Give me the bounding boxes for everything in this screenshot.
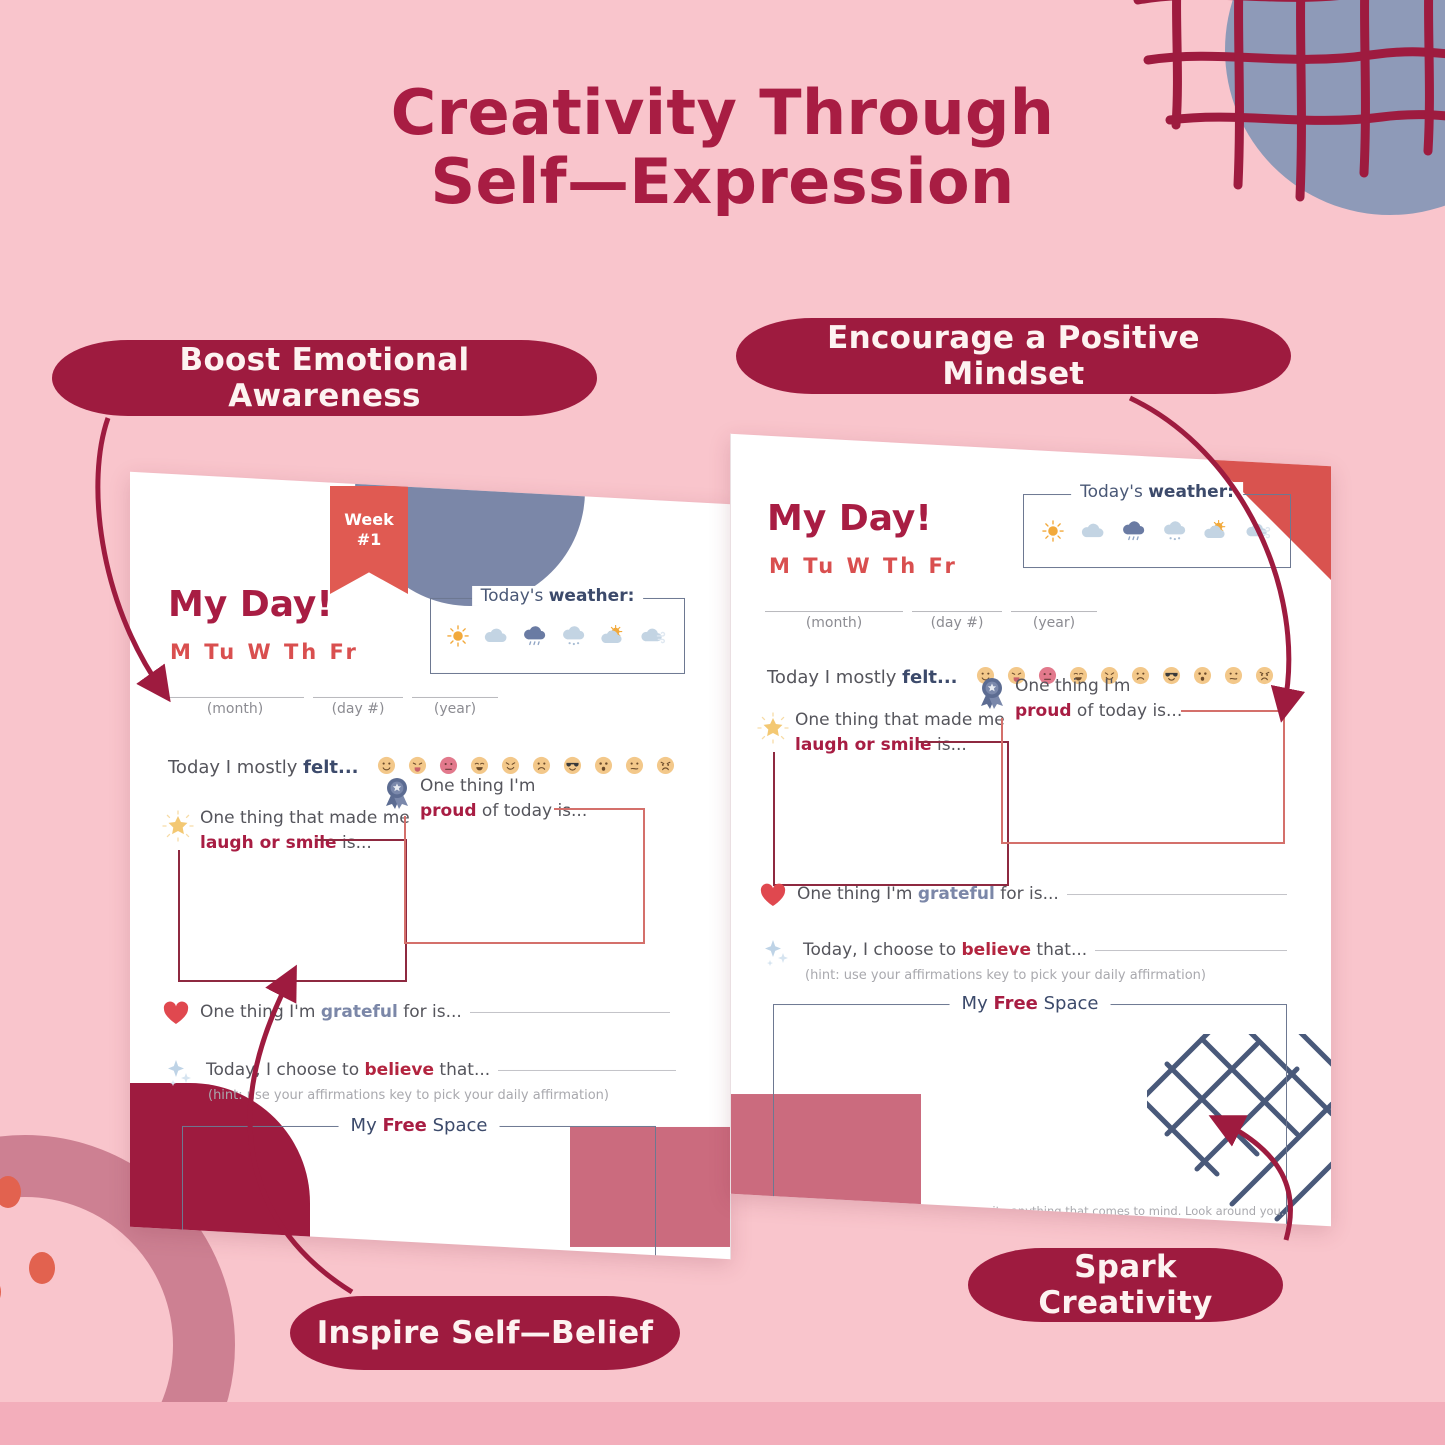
believe-bold-right: believe: [962, 940, 1032, 960]
heart-icon: [162, 1000, 190, 1026]
page-heading-left: My Day!: [168, 584, 333, 625]
day-rule-right: [912, 610, 1002, 612]
laugh-or-smile-answer-box-right[interactable]: [771, 738, 1011, 888]
felt-prompt-left: Today I mostly felt...: [168, 757, 359, 778]
cloud-icon[interactable]: [482, 626, 508, 646]
prompt-laugh-line1: One thing that made me: [200, 808, 410, 828]
proud-box-outline-right: [999, 708, 1287, 846]
windy-cloud-icon[interactable]: [1245, 520, 1273, 542]
free-space-bold: Free: [382, 1115, 426, 1136]
weather-selector-right[interactable]: Today's weather:: [1023, 494, 1291, 568]
weekday-row-right: M Tu W Th Fr: [769, 554, 958, 578]
free-space-post: Space: [427, 1115, 488, 1136]
prompt-laugh-line1-right: One thing that made me: [795, 710, 1005, 730]
date-line-right: (month) (day #) (year): [765, 610, 1097, 631]
year-field-right[interactable]: (year): [1011, 610, 1097, 631]
surprised-face-icon[interactable]: [594, 756, 613, 779]
worried-face-icon[interactable]: [656, 756, 675, 779]
snow-cloud-icon[interactable]: [560, 625, 586, 647]
windy-cloud-icon[interactable]: [640, 625, 668, 647]
worried-face-icon[interactable]: [1255, 666, 1274, 689]
month-field[interactable]: (month): [166, 696, 304, 717]
grateful-post-right: for is...: [995, 884, 1059, 904]
felt-prompt-right: Today I mostly felt...: [767, 667, 958, 688]
grateful-pre-right: One thing I'm: [797, 884, 918, 904]
free-space-caption-right: My Free Space: [950, 993, 1111, 1014]
believe-bold: believe: [365, 1060, 435, 1080]
proud-answer-box-left[interactable]: [402, 806, 647, 946]
free-space-box-right[interactable]: My Free Space (Use this space to draw, s…: [773, 1004, 1287, 1226]
page-title: Creativity Through Self—Expression: [0, 78, 1445, 217]
partly-sunny-icon[interactable]: [599, 625, 627, 647]
free-space-hint-line2-right: Is there an object you can draw or ask q…: [866, 1221, 1193, 1226]
believe-pre-right: Today, I choose to: [803, 940, 962, 960]
rain-cloud-icon[interactable]: [1120, 520, 1146, 542]
award-ribbon-icon: [977, 676, 1007, 710]
sparkle-icon: [761, 938, 791, 970]
confused-face-icon[interactable]: [625, 756, 644, 779]
day-field[interactable]: (day #): [313, 696, 403, 717]
heart-icon: [759, 882, 787, 908]
laugh-box-outline: [176, 836, 409, 984]
weather-caption-left: Today's weather:: [472, 586, 644, 606]
month-label-right: (month): [806, 615, 862, 631]
month-field-right[interactable]: (month): [765, 610, 903, 631]
week-ribbon-line1: Week: [344, 510, 393, 529]
partly-sunny-icon[interactable]: [1202, 520, 1230, 542]
page-heading-right: My Day!: [767, 498, 932, 539]
believe-write-line[interactable]: [498, 1069, 676, 1071]
felt-prompt-bold-right: felt...: [902, 667, 957, 688]
believe-text-right: Today, I choose to believe that...: [803, 940, 1087, 960]
year-rule-right: [1011, 610, 1097, 612]
prompt-proud-line1-right: One thing I'm: [1015, 676, 1130, 696]
week-ribbon: Week #1: [330, 486, 408, 594]
felt-prompt-bold: felt...: [303, 757, 358, 778]
free-space-hint-right: (Use this space to draw, sketch, or writ…: [774, 1203, 1286, 1227]
weather-caption-plain: Today's: [481, 586, 549, 606]
laugh-box-outline-right: [771, 738, 1011, 888]
month-label: (month): [207, 701, 263, 717]
weather-caption-plain-right: Today's: [1080, 482, 1148, 502]
weekday-row-left: M Tu W Th Fr: [170, 640, 359, 664]
grateful-bold-right: grateful: [918, 884, 995, 904]
award-ribbon-icon: [382, 776, 412, 810]
free-space-caption-left: My Free Space: [339, 1115, 500, 1136]
prompt-proud-line1: One thing I'm: [420, 776, 535, 796]
believe-prompt-right[interactable]: Today, I choose to believe that...: [803, 940, 1287, 960]
day-rule: [313, 696, 403, 698]
weather-caption-bold: weather:: [549, 586, 635, 606]
day-label: (day #): [332, 701, 385, 717]
callout-boost-emotional-awareness[interactable]: Boost Emotional Awareness: [52, 340, 597, 416]
decor-bottom-band: [0, 1402, 1445, 1445]
weather-caption-bold-right: weather:: [1148, 482, 1234, 502]
grateful-bold: grateful: [321, 1002, 398, 1022]
proud-box-outline: [402, 806, 647, 946]
grateful-text-right: One thing I'm grateful for is...: [797, 884, 1059, 904]
felt-prompt-plain-right: Today I mostly: [767, 667, 902, 688]
week-ribbon-line2: #1: [357, 530, 382, 549]
poster-canvas: Creativity Through Self—Expression Week …: [0, 0, 1445, 1445]
grateful-pre: One thing I'm: [200, 1002, 321, 1022]
surprised-face-icon[interactable]: [1193, 666, 1212, 689]
free-space-post-right: Space: [1038, 993, 1099, 1014]
month-rule-right: [765, 610, 903, 612]
grateful-prompt-right[interactable]: One thing I'm grateful for is...: [797, 884, 1287, 904]
callout-encourage-positive-mindset[interactable]: Encourage a Positive Mindset: [736, 318, 1291, 394]
rain-cloud-icon[interactable]: [521, 625, 547, 647]
grateful-write-line-right[interactable]: [1067, 893, 1287, 895]
year-rule: [412, 696, 498, 698]
believe-hint-right: (hint: use your affirmations key to pick…: [805, 968, 1206, 983]
year-label: (year): [434, 701, 476, 717]
sun-icon[interactable]: [1042, 520, 1064, 542]
believe-text-left: Today, I choose to believe that...: [206, 1060, 490, 1080]
grateful-prompt-left[interactable]: One thing I'm grateful for is...: [200, 1002, 670, 1022]
date-line-left: (month) (day #) (year): [166, 696, 498, 717]
callout-inspire-self-belief[interactable]: Inspire Self—Belief: [290, 1296, 680, 1370]
journal-page-right: My Day! M Tu W Th Fr (month) (day #): [730, 434, 1331, 1227]
weather-caption-right: Today's weather:: [1071, 482, 1243, 502]
believe-prompt-left[interactable]: Today, I choose to believe that...: [206, 1060, 676, 1080]
cloud-icon[interactable]: [1079, 521, 1105, 541]
journal-spread: Week #1 My Day! M Tu W Th Fr (month) (da…: [120, 430, 1320, 1260]
believe-pre: Today, I choose to: [206, 1060, 365, 1080]
free-space-pre-right: My: [962, 993, 994, 1014]
title-line-2: Self—Expression: [0, 147, 1445, 216]
believe-post-right: that...: [1031, 940, 1087, 960]
sun-icon[interactable]: [447, 625, 469, 647]
year-field[interactable]: (year): [412, 696, 498, 717]
weather-selector-left[interactable]: Today's weather:: [430, 598, 685, 674]
journal-page-left: Week #1 My Day! M Tu W Th Fr (month) (da…: [130, 472, 731, 1260]
believe-hint-left: (hint: use your affirmations key to pick…: [208, 1088, 609, 1103]
laugh-or-smile-answer-box-left[interactable]: [176, 836, 409, 984]
free-space-pre: My: [351, 1115, 383, 1136]
grateful-write-line[interactable]: [470, 1011, 670, 1013]
title-line-1: Creativity Through: [391, 76, 1055, 149]
sparkle-icon: [164, 1058, 194, 1090]
believe-write-line-right[interactable]: [1095, 949, 1287, 951]
grateful-text-left: One thing I'm grateful for is...: [200, 1002, 462, 1022]
confused-face-icon[interactable]: [1224, 666, 1243, 689]
free-space-hint-line1-right: (Use this space to draw, sketch, or writ…: [775, 1204, 1284, 1218]
grateful-post: for is...: [398, 1002, 462, 1022]
day-field-right[interactable]: (day #): [912, 610, 1002, 631]
month-rule: [166, 696, 304, 698]
callout-spark-creativity[interactable]: Spark Creativity: [968, 1248, 1283, 1322]
believe-post: that...: [434, 1060, 490, 1080]
year-label-right: (year): [1033, 615, 1075, 631]
free-space-box-left[interactable]: My Free Space (Use this space to draw, s…: [182, 1126, 656, 1259]
day-label-right: (day #): [931, 615, 984, 631]
snow-cloud-icon[interactable]: [1161, 520, 1187, 542]
free-space-bold-right: Free: [993, 993, 1037, 1014]
felt-prompt-plain: Today I mostly: [168, 757, 303, 778]
proud-answer-box-right[interactable]: [999, 708, 1287, 846]
